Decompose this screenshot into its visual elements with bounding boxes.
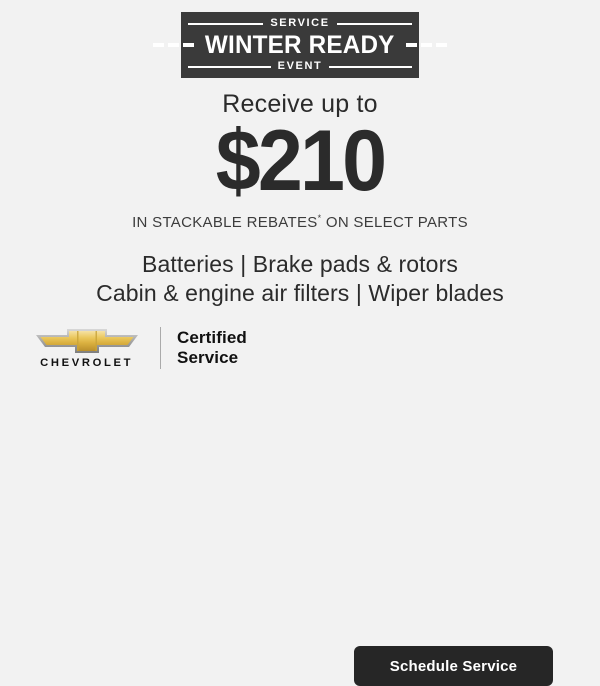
banner-footer: CHEVROLET Certified Service Schedule Ser… <box>0 318 600 380</box>
certified-service-label: Certified Service <box>177 328 247 368</box>
chevrolet-bowtie-icon <box>33 328 141 354</box>
product-line-2: Cabin & engine air filters | Wiper blade… <box>0 279 600 308</box>
badge-kicker-top-row: SERVICE <box>188 17 412 30</box>
dash-mark <box>421 43 432 47</box>
dash-mark <box>406 43 417 47</box>
certified-line-2: Service <box>177 348 247 368</box>
badge-title: WINTER READY <box>205 33 395 58</box>
badge-kicker-bottom-row: EVENT <box>188 60 412 73</box>
offer-amount: $210 <box>18 118 582 204</box>
product-line-1: Batteries | Brake pads & rotors <box>0 250 600 279</box>
chevrolet-wordmark: CHEVROLET <box>40 358 133 369</box>
rebate-text-before: IN STACKABLE REBATES <box>132 214 318 231</box>
dash-mark <box>436 43 447 47</box>
chevrolet-brand-block: CHEVROLET <box>32 328 142 369</box>
dash-mark <box>183 43 194 47</box>
badge-rule-right <box>329 66 412 68</box>
promotional-banner: SERVICE WINTER READY EVENT Receive up to… <box>0 0 600 400</box>
badge-kicker-top: SERVICE <box>270 18 329 29</box>
certified-line-1: Certified <box>177 328 247 348</box>
schedule-service-button[interactable]: Schedule Service <box>354 646 553 686</box>
event-badge: SERVICE WINTER READY EVENT <box>181 12 419 78</box>
badge-dashes-left <box>153 43 194 47</box>
dash-mark <box>153 43 164 47</box>
rebate-disclaimer-line: IN STACKABLE REBATES* ON SELECT PARTS <box>0 215 600 230</box>
badge-rule-right <box>337 23 412 25</box>
badge-title-row: WINTER READY <box>188 31 412 59</box>
badge-dashes-right <box>406 43 447 47</box>
lockup-divider <box>160 327 161 369</box>
product-list: Batteries | Brake pads & rotors Cabin & … <box>0 250 600 308</box>
brand-lockup: CHEVROLET Certified Service <box>32 318 247 378</box>
rebate-text-after: ON SELECT PARTS <box>321 214 468 231</box>
badge-rule-left <box>188 66 271 68</box>
dash-mark <box>168 43 179 47</box>
badge-rule-left <box>188 23 263 25</box>
badge-kicker-bottom: EVENT <box>278 61 323 72</box>
